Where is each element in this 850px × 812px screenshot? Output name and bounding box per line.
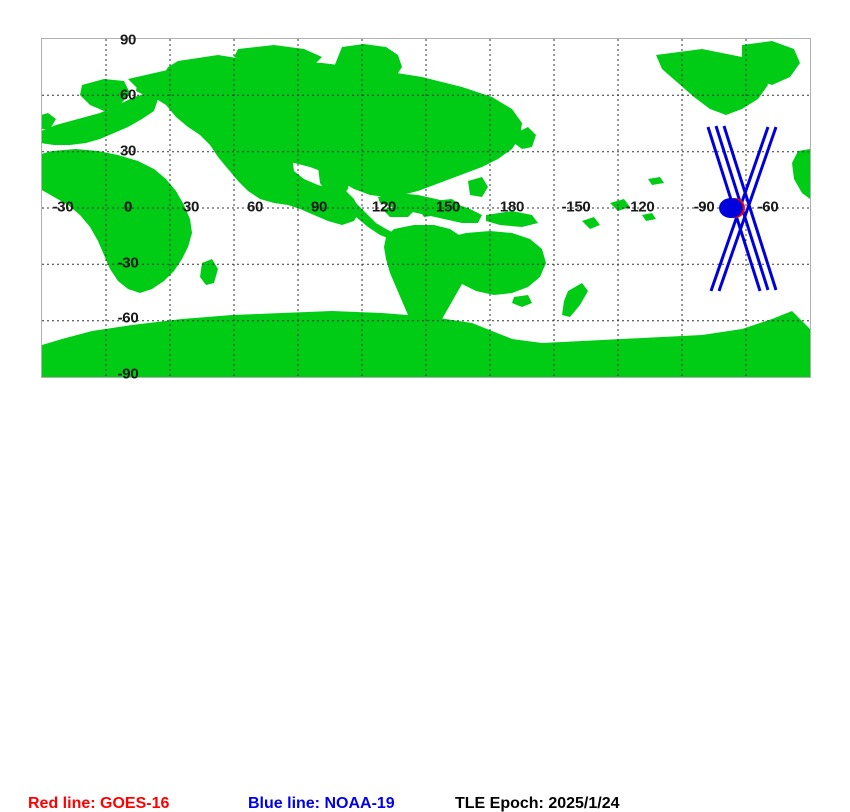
lon-label-60: 60 [247, 200, 263, 215]
lon-label--60: -60 [758, 200, 779, 215]
noaa19-marker [719, 198, 743, 218]
landmass-madagascar [200, 259, 218, 285]
lon-label--120: -120 [626, 200, 655, 215]
lat-label-0: 0 [124, 200, 132, 215]
lon-label-90: 90 [311, 200, 327, 215]
legend-noaa19: Blue line: NOAA-19 [248, 796, 395, 812]
lat-label-60: 60 [120, 88, 136, 103]
lat-label-90: 90 [120, 33, 136, 48]
satellite-tracking-map-page: -30 0 30 60 90 120 150 180 -150 -120 -90… [0, 0, 850, 425]
lat-label--60: -60 [118, 311, 139, 326]
landmass-pacific-islands [582, 217, 600, 229]
landmass-west-africa-wrap [792, 149, 810, 199]
lon-label-30: 30 [183, 200, 199, 215]
legend-tle-epoch: TLE Epoch: 2025/1/24 [455, 796, 620, 812]
landmass-hawaii [648, 177, 664, 185]
lon-label--30: -30 [53, 200, 74, 215]
lon-label-180: 180 [500, 200, 524, 215]
satellite-markers [719, 198, 745, 218]
lon-label-150: 150 [436, 200, 460, 215]
landmass-tasmania [512, 295, 532, 307]
landmass-new-zealand [562, 283, 588, 317]
lat-label-30: 30 [120, 144, 136, 159]
landmass-philippines [468, 177, 488, 197]
lat-label--30: -30 [118, 256, 139, 271]
lon-label-120: 120 [372, 200, 396, 215]
legend: Red line: GOES-16 Blue line: NOAA-19 TLE… [0, 392, 850, 425]
lat-label--90: -90 [118, 367, 139, 382]
lon-label--90: -90 [694, 200, 715, 215]
lon-label--150: -150 [562, 200, 591, 215]
legend-goes16: Red line: GOES-16 [28, 796, 169, 812]
